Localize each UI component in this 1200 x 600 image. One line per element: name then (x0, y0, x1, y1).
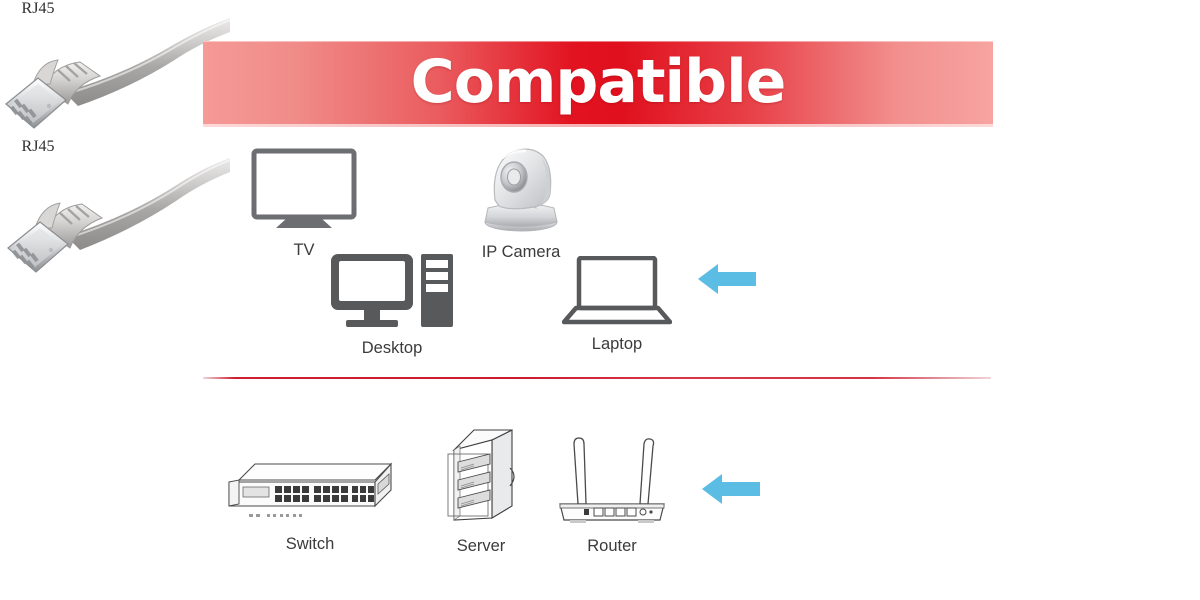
left-arrow-icon (700, 470, 762, 508)
left-arrow-icon (696, 260, 758, 298)
compatibility-infographic: Compatible TV (0, 0, 1200, 600)
desktop-computer-icon (328, 252, 456, 335)
direction-arrow-bottom (700, 470, 762, 508)
connector-label-top: RJ45 (0, 0, 76, 18)
direction-arrow-top (696, 260, 758, 298)
device-desktop: Desktop (328, 252, 456, 358)
section-divider (203, 377, 991, 379)
device-server: Server (440, 424, 522, 556)
device-label: Switch (225, 535, 395, 554)
ip-camera-icon (458, 142, 584, 239)
network-switch-icon (225, 452, 395, 531)
wifi-router-icon (552, 428, 672, 533)
device-label: Desktop (328, 339, 456, 358)
device-label: Router (552, 537, 672, 556)
device-laptop: Laptop (562, 256, 672, 354)
device-label: Server (440, 537, 522, 556)
compatible-banner: Compatible (203, 41, 993, 124)
laptop-icon (562, 256, 672, 331)
rj45-patch-cable-bottom (0, 156, 230, 282)
device-router: Router (552, 428, 672, 556)
connector-label-bottom: RJ45 (0, 138, 76, 156)
device-label: Laptop (562, 335, 672, 354)
tv-icon (246, 148, 362, 237)
page-title: Compatible (203, 51, 993, 111)
server-rack-icon (440, 424, 522, 533)
device-ip-camera: IP Camera (458, 142, 584, 262)
rj45-patch-cable-top (0, 18, 230, 138)
device-tv: TV (246, 148, 362, 260)
device-switch: Switch (225, 452, 395, 554)
